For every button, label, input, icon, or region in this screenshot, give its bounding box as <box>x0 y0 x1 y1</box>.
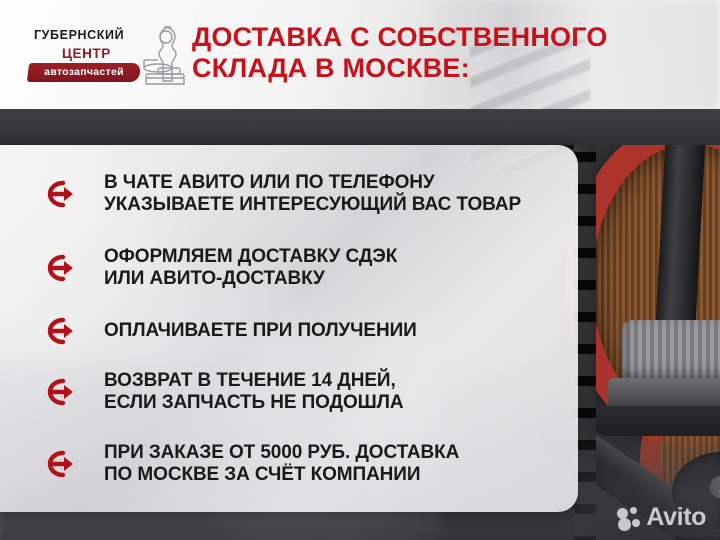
list-item-line-1: В ЧАТЕ АВИТО ИЛИ ПО ТЕЛЕФОНУ <box>104 172 521 194</box>
list-item-line-1: ОПЛАЧИВАЕТЕ ПРИ ПОЛУЧЕНИИ <box>104 320 417 342</box>
list-item-line-2: ИЛИ АВИТО-ДОСТАВКУ <box>104 268 397 290</box>
list-item-line-2: УКАЗЫВАЕТЕ ИНТЕРЕСУЮЩИЙ ВАС ТОВАР <box>104 194 521 216</box>
list-item-text: ВОЗВРАТ В ТЕЧЕНИЕ 14 ДНЕЙ, ЕСЛИ ЗАПЧАСТЬ… <box>104 370 404 415</box>
list-item-text: В ЧАТЕ АВИТО ИЛИ ПО ТЕЛЕФОНУ УКАЗЫВАЕТЕ … <box>104 172 521 217</box>
circle-arrow-right-icon <box>36 447 76 481</box>
list-item: ОФОРМЛЯЕМ ДОСТАВКУ СДЭК ИЛИ АВИТО-ДОСТАВ… <box>0 239 578 297</box>
avito-dots-icon <box>617 507 641 529</box>
wheel-hub-icon <box>622 320 720 382</box>
avito-label: Avito <box>646 503 706 532</box>
logo-line-1: ГУБЕРНСКИЙ <box>34 28 124 42</box>
list-item: ОПЛАЧИВАЕТЕ ПРИ ПОЛУЧЕНИИ <box>0 309 578 353</box>
microscope-outline-icon <box>136 24 196 86</box>
delivery-steps-panel: В ЧАТЕ АВИТО ИЛИ ПО ТЕЛЕФОНУ УКАЗЫВАЕТЕ … <box>0 145 578 512</box>
circle-arrow-right-icon <box>36 375 76 409</box>
list-item-line-2: ПО МОСКВЕ ЗА СЧЁТ КОМПАНИИ <box>104 464 459 486</box>
list-item: ВОЗВРАТ В ТЕЧЕНИЕ 14 ДНЕЙ, ЕСЛИ ЗАПЧАСТЬ… <box>0 363 578 421</box>
header-divider-band <box>0 109 720 145</box>
circle-arrow-right-icon <box>36 177 76 211</box>
circle-arrow-right-icon <box>36 314 76 348</box>
list-item-line-1: ВОЗВРАТ В ТЕЧЕНИЕ 14 ДНЕЙ, <box>104 370 404 392</box>
logo-banner: автозапчастей <box>27 63 141 82</box>
list-item: В ЧАТЕ АВИТО ИЛИ ПО ТЕЛЕФОНУ УКАЗЫВАЕТЕ … <box>0 163 578 225</box>
delivery-steps-list: В ЧАТЕ АВИТО ИЛИ ПО ТЕЛЕФОНУ УКАЗЫВАЕТЕ … <box>0 145 578 493</box>
list-item-text: ОФОРМЛЯЕМ ДОСТАВКУ СДЭК ИЛИ АВИТО-ДОСТАВ… <box>104 246 397 291</box>
company-logo: ГУБЕРНСКИЙ ЦЕНТР автозапчастей <box>26 24 176 86</box>
logo-banner-label: автозапчастей <box>28 63 140 82</box>
page-title-line-1: ДОСТАВКА С СОБСТВЕННОГО <box>192 22 692 53</box>
circle-arrow-right-icon <box>36 251 76 285</box>
page-title-line-2: СКЛАДА В МОСКВЕ: <box>192 53 692 84</box>
list-item: ПРИ ЗАКАЗЕ ОТ 5000 РУБ. ДОСТАВКА ПО МОСК… <box>0 435 578 493</box>
page-title: ДОСТАВКА С СОБСТВЕННОГО СКЛАДА В МОСКВЕ: <box>192 22 692 83</box>
list-item-line-2: ЕСЛИ ЗАПЧАСТЬ НЕ ПОДОШЛА <box>104 392 404 414</box>
logo-line-2: ЦЕНТР <box>62 46 111 61</box>
avito-watermark: Avito <box>617 503 706 532</box>
list-item-line-1: ОФОРМЛЯЕМ ДОСТАВКУ СДЭК <box>104 246 397 268</box>
list-item-line-1: ПРИ ЗАКАЗЕ ОТ 5000 РУБ. ДОСТАВКА <box>104 442 459 464</box>
list-item-text: ОПЛАЧИВАЕТЕ ПРИ ПОЛУЧЕНИИ <box>104 320 417 342</box>
list-item-text: ПРИ ЗАКАЗЕ ОТ 5000 РУБ. ДОСТАВКА ПО МОСК… <box>104 442 459 487</box>
